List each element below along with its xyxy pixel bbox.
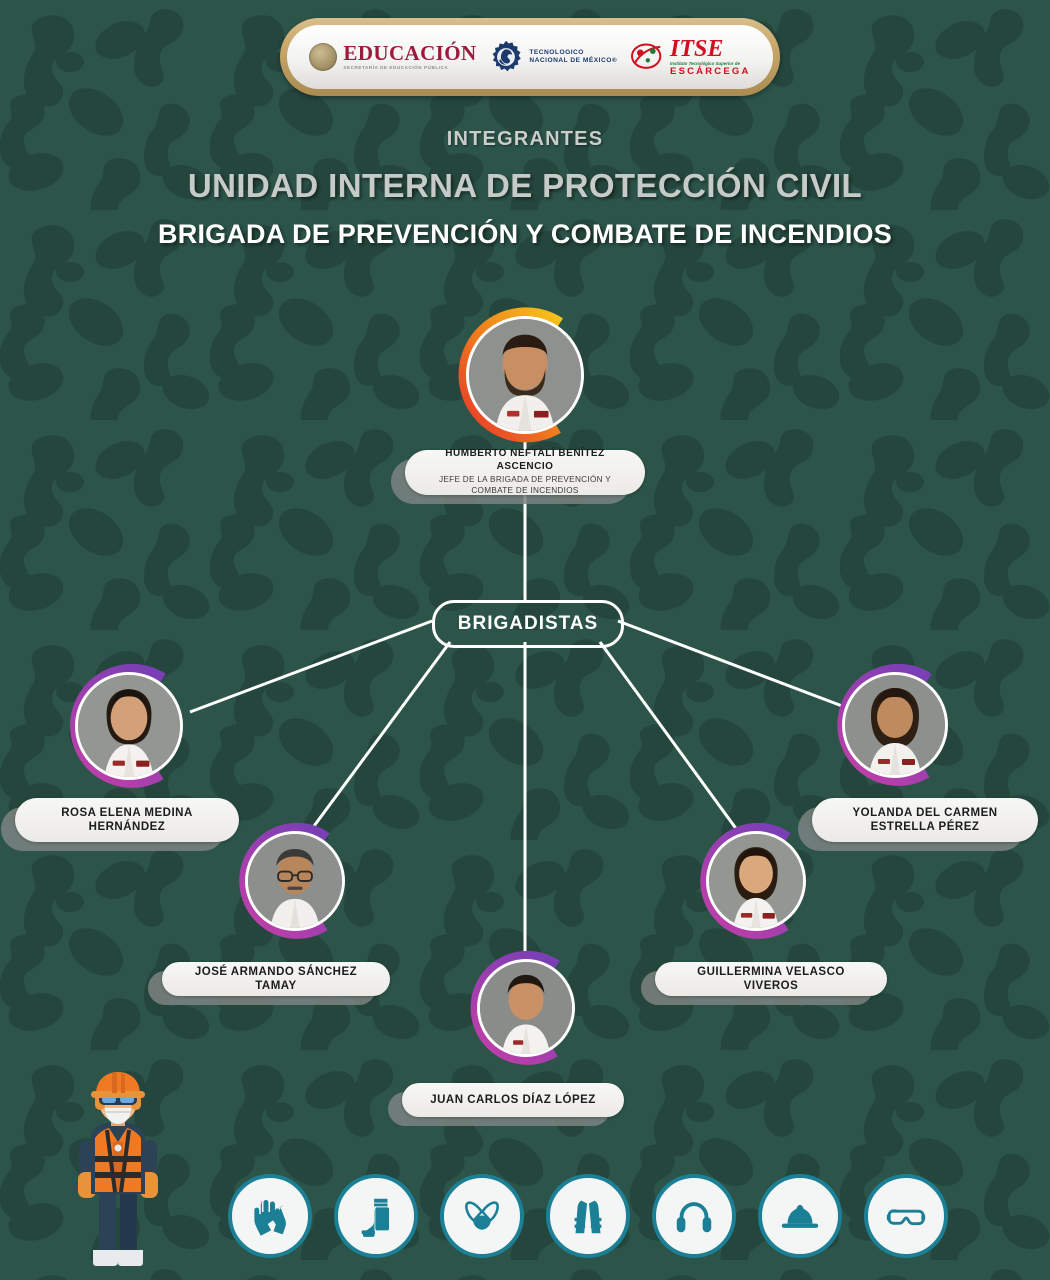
brigadistas-group-node[interactable]: BRIGADISTAS [432, 600, 624, 648]
member-name-4: YOLANDA DEL CARMEN ESTRELLA PÉREZ [828, 806, 1022, 835]
member-avatar-2 [468, 950, 584, 1066]
leader-node [455, 305, 595, 445]
member-label-wrap-2: JUAN CARLOS DÍAZ LÓPEZ [402, 1083, 624, 1117]
member-node-3 [697, 822, 815, 940]
member-label-2[interactable]: JUAN CARLOS DÍAZ LÓPEZ [402, 1083, 624, 1117]
member-name-0: ROSA ELENA MEDINA HERNÁNDEZ [31, 806, 223, 835]
member-photo-4 [842, 672, 948, 778]
leader-label[interactable]: HUMBERTO NEFTALÍ BENÍTEZ ASCENCIO JEFE D… [405, 450, 645, 495]
leader-role: JEFE DE LA BRIGADA DE PREVENCIÓN Y COMBA… [421, 475, 629, 496]
member-avatar-4 [832, 662, 958, 788]
member-label-wrap-4: YOLANDA DEL CARMEN ESTRELLA PÉREZ [812, 798, 1038, 842]
member-name-1: JOSÉ ARMANDO SÁNCHEZ TAMAY [178, 965, 374, 994]
leader-label-wrap: HUMBERTO NEFTALÍ BENÍTEZ ASCENCIO JEFE D… [405, 450, 645, 495]
member-photo-0 [75, 672, 183, 780]
leader-avatar [455, 305, 595, 445]
member-avatar-3 [697, 822, 815, 940]
member-node-0 [65, 662, 193, 790]
safety-gloves-icon[interactable] [228, 1174, 312, 1258]
member-name-2: JUAN CARLOS DÍAZ LÓPEZ [430, 1093, 596, 1107]
member-label-3[interactable]: GUILLERMINA VELASCO VIVEROS [655, 962, 887, 996]
member-avatar-1 [236, 822, 354, 940]
safety-goggles-icon[interactable] [864, 1174, 948, 1258]
member-node-1 [236, 822, 354, 940]
member-node-2 [468, 950, 584, 1066]
leader-photo [466, 316, 584, 434]
member-label-wrap-0: ROSA ELENA MEDINA HERNÁNDEZ [15, 798, 239, 842]
member-label-wrap-3: GUILLERMINA VELASCO VIVEROS [655, 962, 887, 996]
leader-name: HUMBERTO NEFTALÍ BENÍTEZ ASCENCIO [421, 448, 629, 473]
hard-hat-icon[interactable] [758, 1174, 842, 1258]
brigadistas-label: BRIGADISTAS [458, 613, 598, 635]
member-photo-3 [706, 831, 806, 931]
respirator-mask-icon[interactable] [440, 1174, 524, 1258]
member-label-wrap-1: JOSÉ ARMANDO SÁNCHEZ TAMAY [162, 962, 390, 996]
ppe-icon-row [228, 1168, 948, 1264]
member-label-4[interactable]: YOLANDA DEL CARMEN ESTRELLA PÉREZ [812, 798, 1038, 842]
safety-worker-illustration [55, 1068, 181, 1280]
member-label-1[interactable]: JOSÉ ARMANDO SÁNCHEZ TAMAY [162, 962, 390, 996]
ear-protection-icon[interactable] [652, 1174, 736, 1258]
member-label-0[interactable]: ROSA ELENA MEDINA HERNÁNDEZ [15, 798, 239, 842]
safety-boots-icon[interactable] [334, 1174, 418, 1258]
safety-vest-icon[interactable] [546, 1174, 630, 1258]
member-name-3: GUILLERMINA VELASCO VIVEROS [671, 965, 871, 994]
member-avatar-0 [65, 662, 193, 790]
member-node-4 [832, 662, 958, 788]
member-photo-2 [477, 959, 575, 1057]
member-photo-1 [245, 831, 345, 931]
